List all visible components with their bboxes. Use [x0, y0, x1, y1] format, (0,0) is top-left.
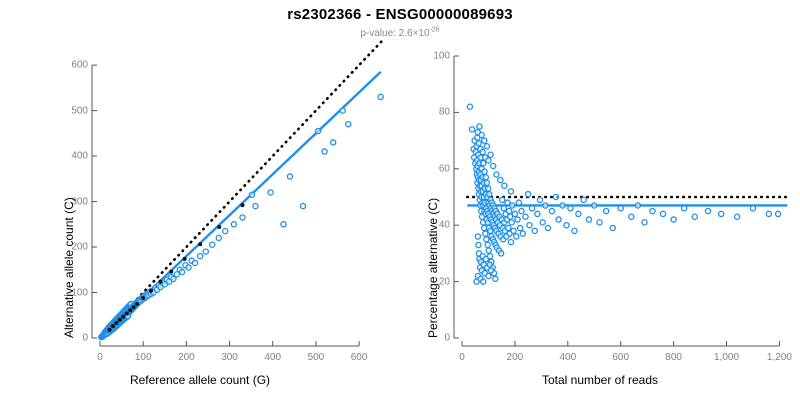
data-point [240, 215, 245, 220]
data-point [198, 254, 203, 259]
data-point [734, 214, 739, 219]
data-point [486, 248, 491, 253]
data-point [529, 206, 534, 211]
figure-root: rs2302366 - ENSG00000089693 p-value: 2.6… [0, 0, 800, 400]
data-point [216, 235, 221, 240]
data-point-dark [149, 289, 153, 293]
data-point-dark [141, 296, 145, 300]
data-point [331, 140, 336, 145]
data-point [549, 209, 554, 214]
y-tick-label: 60 [426, 163, 450, 174]
data-point [511, 228, 516, 233]
x-axis-title-left: Reference allele count (G) [0, 373, 400, 387]
data-point [775, 211, 780, 216]
data-point [249, 192, 254, 197]
x-tick-label: 600 [351, 352, 368, 363]
data-point-dark [198, 242, 202, 246]
data-point-dark [125, 311, 129, 315]
data-point [475, 234, 480, 239]
data-point-dark [158, 280, 162, 284]
data-point [526, 192, 531, 197]
data-point [560, 203, 565, 208]
data-point [482, 138, 487, 143]
data-point [486, 158, 491, 163]
x-tick-label: 1,200 [767, 352, 792, 363]
data-point [553, 194, 558, 199]
data-point [479, 132, 484, 137]
data-point [568, 206, 573, 211]
data-point [488, 152, 493, 157]
data-point [491, 163, 496, 168]
data-point [532, 228, 537, 233]
data-point [545, 225, 550, 230]
data-point [520, 231, 525, 236]
panel-left: 01002003004005006000100200300400500600 R… [0, 0, 400, 400]
data-point-dark [169, 270, 173, 274]
data-point [203, 249, 208, 254]
x-tick-label: 100 [135, 352, 152, 363]
data-point [501, 206, 506, 211]
data-point-dark [217, 225, 221, 229]
data-point [477, 124, 482, 129]
data-point [527, 223, 532, 228]
data-point [482, 169, 487, 174]
data-point [281, 222, 286, 227]
data-point [660, 211, 665, 216]
x-tick-label: 300 [221, 352, 238, 363]
data-point-dark [241, 203, 245, 207]
data-point [581, 197, 586, 202]
x-tick-label: 200 [178, 352, 195, 363]
data-point [340, 108, 345, 113]
data-point [499, 251, 504, 256]
data-point [543, 203, 548, 208]
data-point [671, 217, 676, 222]
data-point-group [467, 104, 780, 284]
data-point [253, 203, 258, 208]
x-tick-label: 600 [612, 352, 629, 363]
data-point [494, 172, 499, 177]
data-point [564, 223, 569, 228]
plot-area-right [462, 56, 790, 338]
data-point [483, 231, 488, 236]
data-point [556, 217, 561, 222]
data-point [518, 225, 523, 230]
x-tick-label: 0 [459, 352, 465, 363]
data-point [192, 260, 197, 265]
data-point-dark [132, 305, 136, 309]
data-point [467, 104, 472, 109]
data-point [493, 276, 498, 281]
data-point [378, 94, 383, 99]
data-point [485, 242, 490, 247]
data-point [346, 122, 351, 127]
data-point-dark [135, 302, 139, 306]
y-tick-label: 600 [64, 60, 88, 71]
data-point [650, 209, 655, 214]
data-point [618, 206, 623, 211]
x-tick-label: 0 [97, 352, 103, 363]
data-point-dark [111, 324, 115, 328]
data-point [486, 186, 491, 191]
y-tick-label: 80 [426, 107, 450, 118]
data-point [515, 217, 520, 222]
scatter-canvas-left [100, 56, 385, 338]
data-point [179, 269, 184, 274]
data-point [480, 149, 485, 154]
data-point [516, 200, 521, 205]
data-point [586, 217, 591, 222]
data-point-dark [108, 328, 112, 332]
y-tick-label: 500 [64, 105, 88, 116]
data-point [537, 197, 542, 202]
y-tick-label: 100 [426, 51, 450, 62]
y-tick-label: 400 [64, 151, 88, 162]
data-point-dark [128, 308, 132, 312]
data-point [487, 262, 492, 267]
identity-line [100, 40, 383, 338]
data-point [610, 225, 615, 230]
data-point [498, 177, 503, 182]
panel-right: 02004006008001,0001,200020406080100 Tota… [400, 0, 800, 400]
data-point [535, 211, 540, 216]
x-tick-label: 200 [507, 352, 524, 363]
data-point [692, 214, 697, 219]
data-point [315, 128, 320, 133]
data-point [750, 206, 755, 211]
data-point [512, 211, 517, 216]
data-point [483, 256, 488, 261]
data-point [484, 180, 489, 185]
data-point [766, 211, 771, 216]
data-point [488, 268, 493, 273]
data-point [576, 211, 581, 216]
data-point [523, 214, 528, 219]
data-point [514, 234, 519, 239]
data-point [287, 174, 292, 179]
data-point-dark [121, 315, 125, 319]
data-point-dark [114, 321, 118, 325]
x-tick-label: 800 [665, 352, 682, 363]
data-point [540, 220, 545, 225]
data-point [268, 190, 273, 195]
data-point [508, 189, 513, 194]
data-point [484, 237, 489, 242]
data-point [502, 183, 507, 188]
data-point [469, 127, 474, 132]
data-point [508, 240, 513, 245]
plot-area-left [100, 56, 385, 338]
data-point-group [99, 94, 384, 339]
data-point [705, 209, 710, 214]
x-tick-label: 400 [559, 352, 576, 363]
data-point [682, 206, 687, 211]
data-point [231, 222, 236, 227]
data-point [300, 203, 305, 208]
data-point [635, 203, 640, 208]
data-point [519, 209, 524, 214]
data-point [484, 144, 489, 149]
data-point-dark [118, 318, 122, 322]
data-point [210, 242, 215, 247]
data-point-dark [183, 257, 187, 261]
x-tick-label: 500 [308, 352, 325, 363]
data-point [486, 273, 491, 278]
data-point [487, 192, 492, 197]
x-axis-title-right: Total number of reads [400, 373, 800, 387]
data-point [476, 141, 481, 146]
y-axis-title-right: Percentage alternative (C) [426, 198, 440, 338]
y-axis-title-left: Alternative allele count (C) [62, 197, 76, 338]
data-point [481, 279, 486, 284]
data-point [642, 220, 647, 225]
data-point [510, 203, 515, 208]
data-point [592, 203, 597, 208]
x-tick-label: 1,000 [714, 352, 739, 363]
x-tick-label: 400 [264, 352, 281, 363]
data-point [500, 197, 505, 202]
data-point [481, 161, 486, 166]
data-point [483, 175, 488, 180]
data-point [322, 149, 327, 154]
scatter-canvas-right [462, 56, 790, 338]
data-point [597, 220, 602, 225]
data-point [476, 242, 481, 247]
data-point [572, 228, 577, 233]
data-point [186, 265, 191, 270]
data-point [506, 225, 511, 230]
data-point [509, 220, 514, 225]
data-point [223, 229, 228, 234]
data-point [629, 214, 634, 219]
data-point [604, 209, 609, 214]
data-point [506, 209, 511, 214]
data-point [719, 211, 724, 216]
